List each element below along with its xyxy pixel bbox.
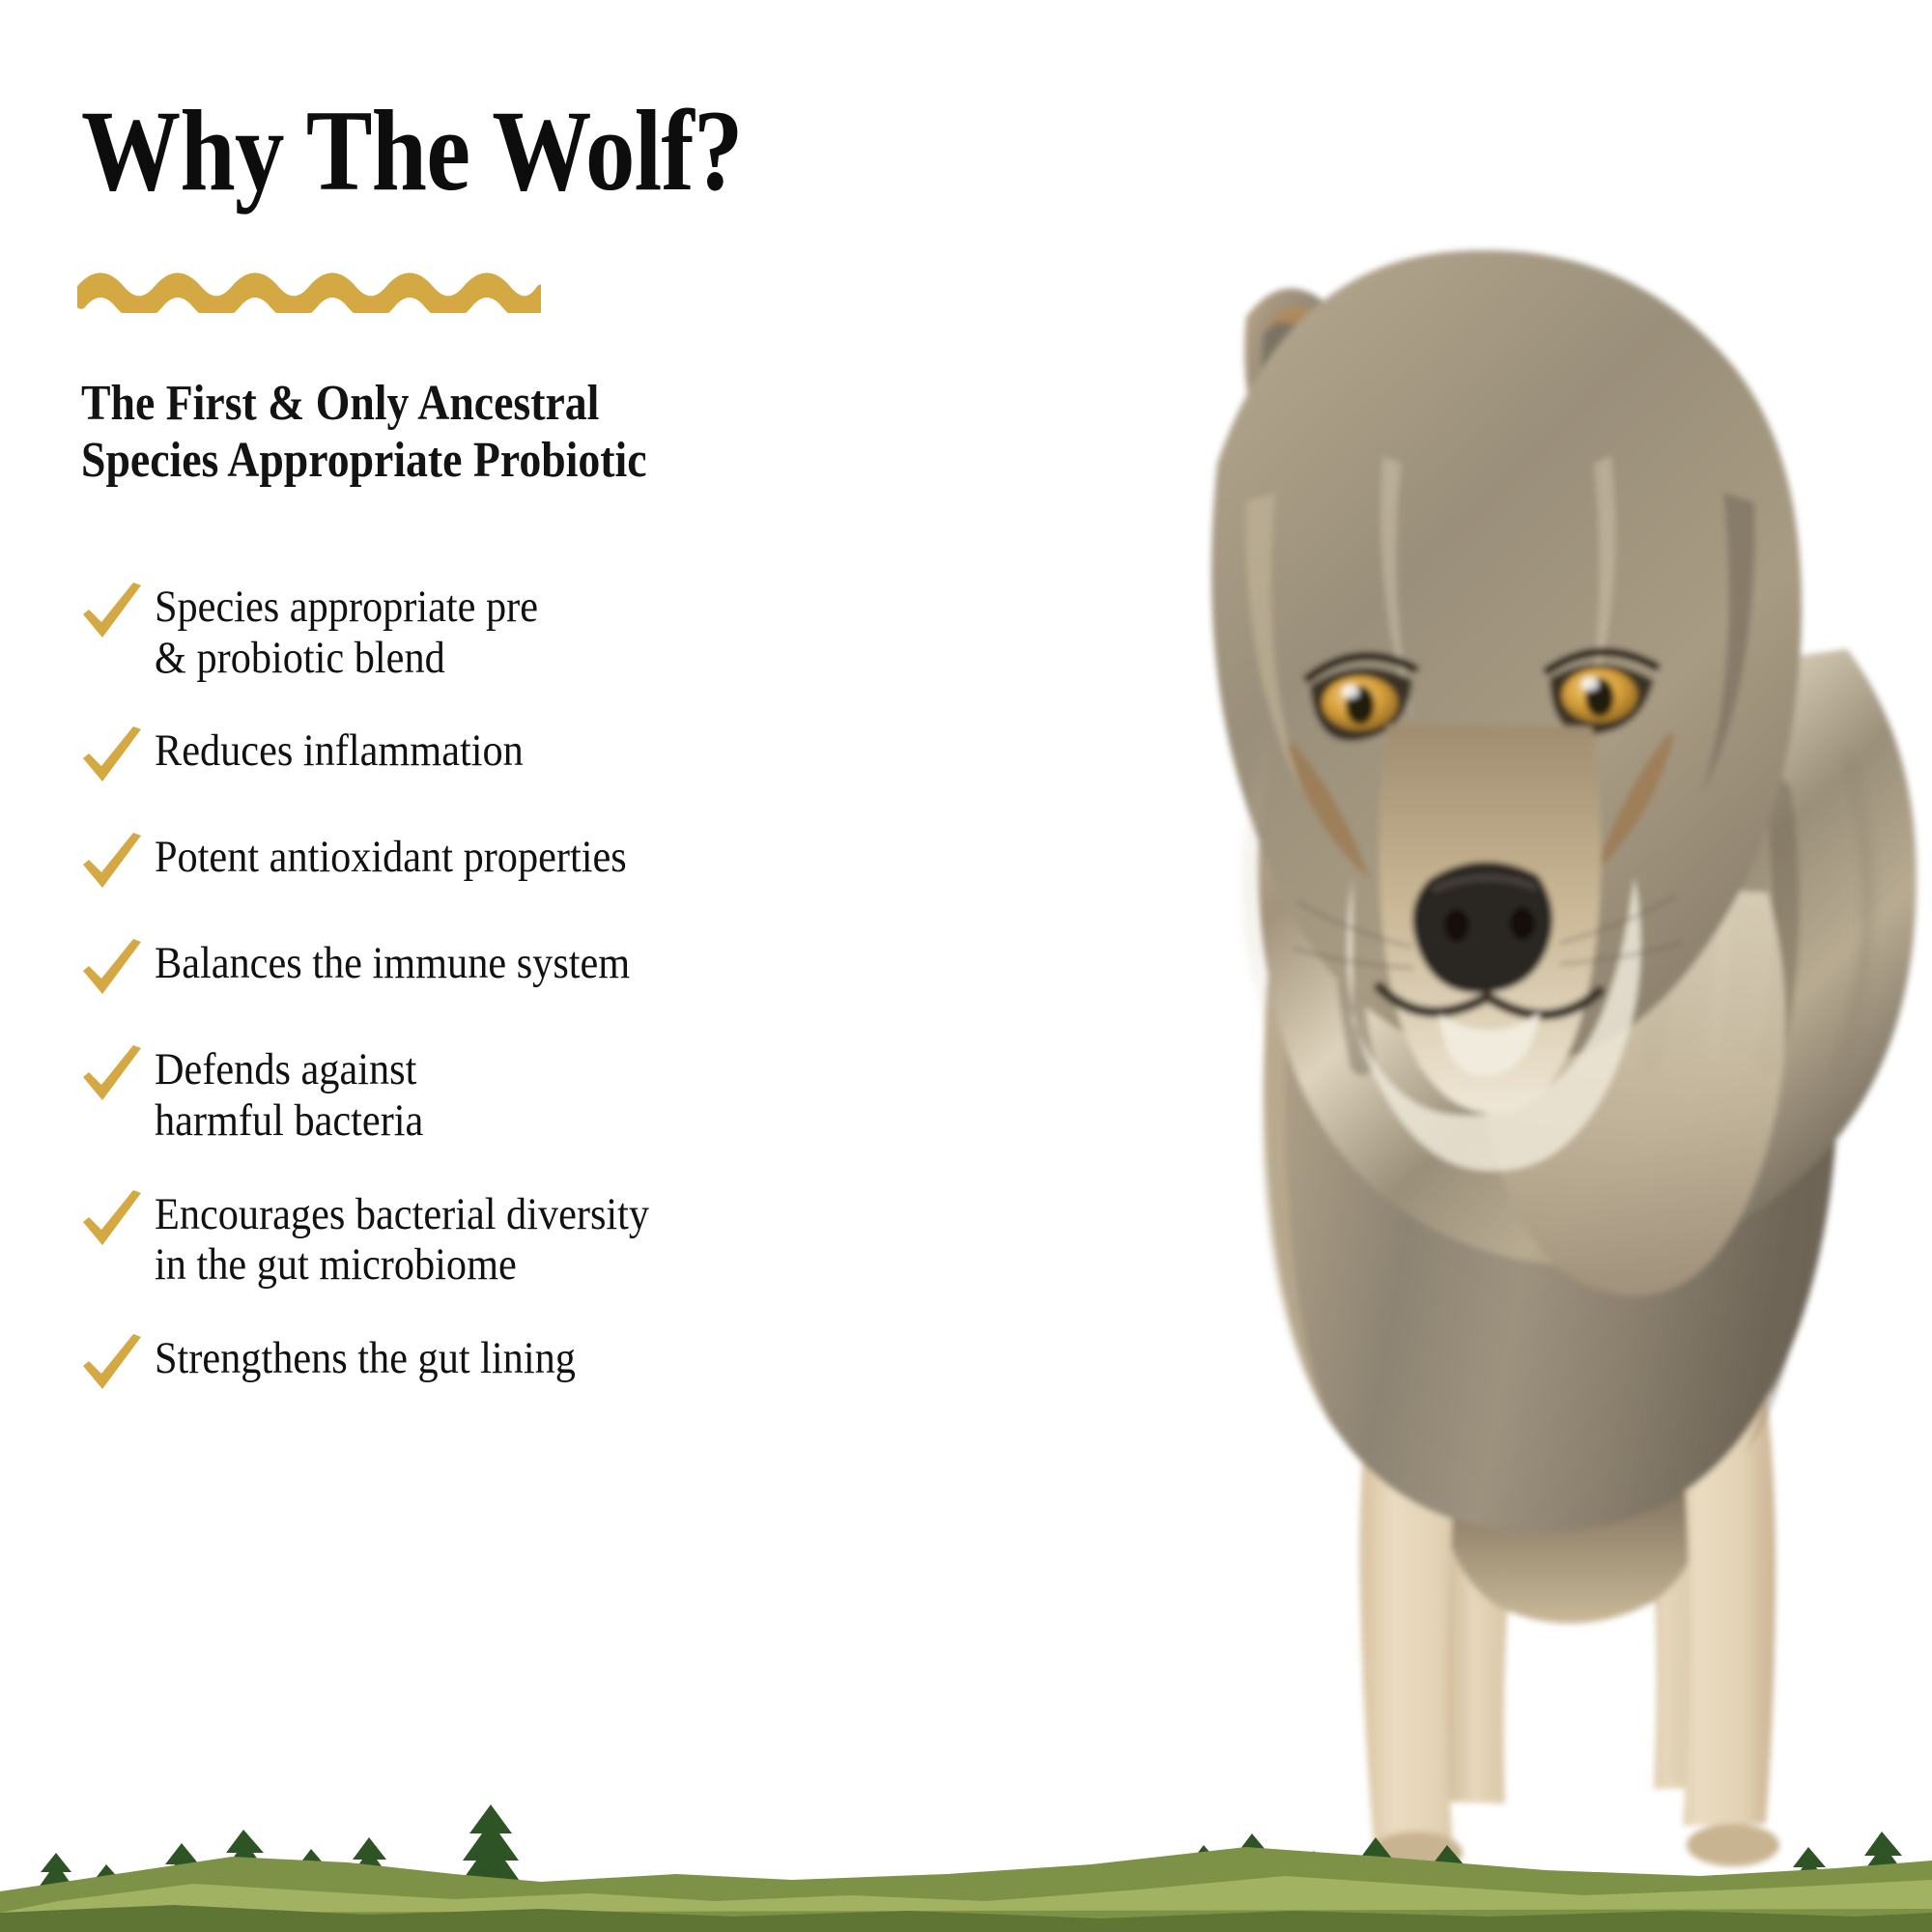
page-title: Why The Wolf? xyxy=(81,93,743,209)
page-subtitle: The First & Only Ancestral Species Appro… xyxy=(81,375,753,490)
wolf-photo xyxy=(734,145,1932,1874)
wavy-underline-icon xyxy=(77,263,541,313)
list-item: Reduces inflammation xyxy=(77,724,869,789)
list-item-label: Strengthens the gut lining xyxy=(155,1331,576,1384)
list-item-label: Potent antioxidant properties xyxy=(155,830,627,883)
list-item: Defends against harmful bacteria xyxy=(77,1042,869,1146)
list-item-label: Species appropriate pre & probiotic blen… xyxy=(155,580,538,683)
checkmark-icon xyxy=(77,725,147,789)
checkmark-icon xyxy=(77,1333,147,1397)
checkmark-icon xyxy=(77,1044,147,1108)
checkmark-icon xyxy=(77,1189,147,1253)
benefits-checklist: Species appropriate pre & probiotic blen… xyxy=(77,580,869,1437)
text-column: Why The Wolf? The First & Only Ancestral… xyxy=(0,0,869,1932)
list-item-label: Balances the immune system xyxy=(155,936,630,989)
checkmark-icon xyxy=(77,582,147,645)
list-item: Balances the immune system xyxy=(77,936,869,1002)
checkmark-icon xyxy=(77,832,147,895)
checkmark-icon xyxy=(77,938,147,1002)
subtitle-line-1: The First & Only Ancestral xyxy=(81,375,753,432)
list-item: Encourages bacterial diversity in the gu… xyxy=(77,1187,869,1291)
subtitle-line-2: Species Appropriate Probiotic xyxy=(81,432,753,489)
poster-canvas: Why The Wolf? The First & Only Ancestral… xyxy=(0,0,1932,1932)
list-item: Species appropriate pre & probiotic blen… xyxy=(77,580,869,683)
list-item-label: Encourages bacterial diversity in the gu… xyxy=(155,1187,649,1291)
list-item: Strengthens the gut lining xyxy=(77,1331,869,1397)
list-item-label: Defends against harmful bacteria xyxy=(155,1042,423,1146)
list-item-label: Reduces inflammation xyxy=(155,724,524,777)
list-item: Potent antioxidant properties xyxy=(77,830,869,895)
